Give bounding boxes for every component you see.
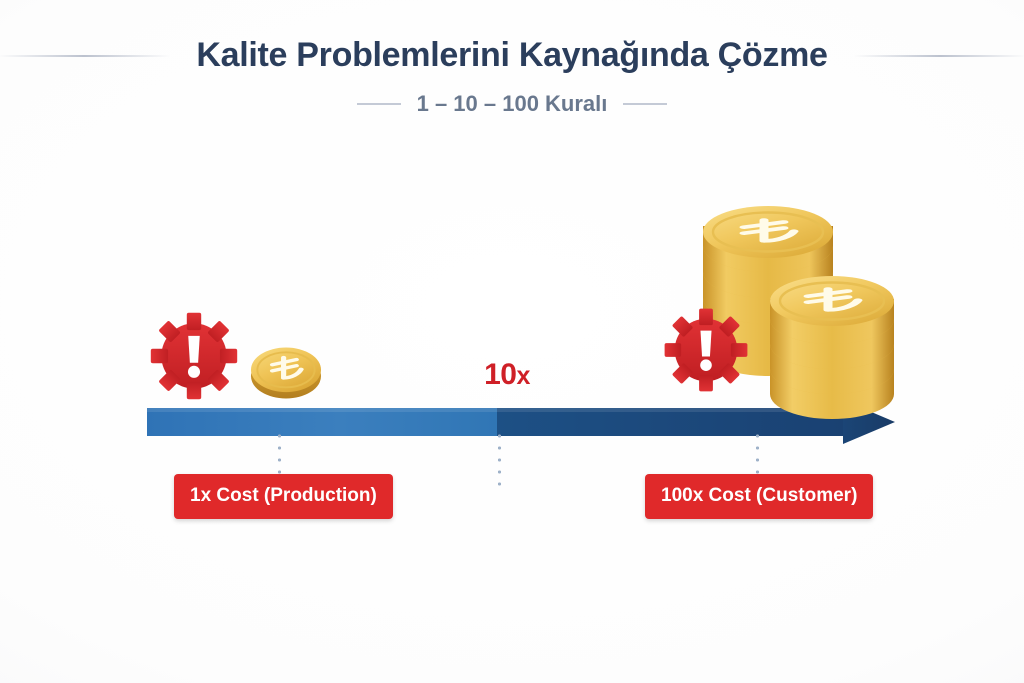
badge-cost-production: 1x Cost (Production) [174,474,393,519]
left-icon-cluster [146,300,346,408]
page-subtitle: 1 – 10 – 100 Kuralı [417,91,608,117]
badge-right-label: Cost (Customer) [703,485,857,506]
subtitle-rule-left [357,103,401,105]
subtitle-rule-right [623,103,667,105]
tick-connector-middle [497,430,502,488]
badge-right-multiplier: 100x [661,485,703,506]
infographic-canvas: Kalite Problemlerini Kaynağında Çözme 1 … [0,0,1024,683]
lira-coin-icon [242,330,330,408]
mid-multiplier-suffix: x [516,362,529,390]
tick-connector-left [277,430,282,476]
mid-multiplier-label: 10x [462,358,552,392]
badge-cost-customer: 100x Cost (Customer) [645,474,873,519]
tick-connector-right [755,430,760,476]
right-icon-cluster [660,190,900,410]
title-row: Kalite Problemlerini Kaynağında Çözme [0,36,1024,75]
badge-left-label: Cost (Production) [211,485,377,506]
page-title: Kalite Problemlerini Kaynağında Çözme [196,36,827,75]
lira-coin-stack-front-icon [766,268,898,428]
title-rule-right [854,55,1024,57]
gear-alert-icon [146,308,242,404]
header: Kalite Problemlerini Kaynağında Çözme 1 … [0,36,1024,117]
mid-multiplier-value: 10 [484,358,516,391]
gear-alert-icon [660,304,752,396]
badge-left-multiplier: 1x [190,485,211,506]
title-rule-left [0,55,170,57]
subtitle-row: 1 – 10 – 100 Kuralı [0,91,1024,117]
